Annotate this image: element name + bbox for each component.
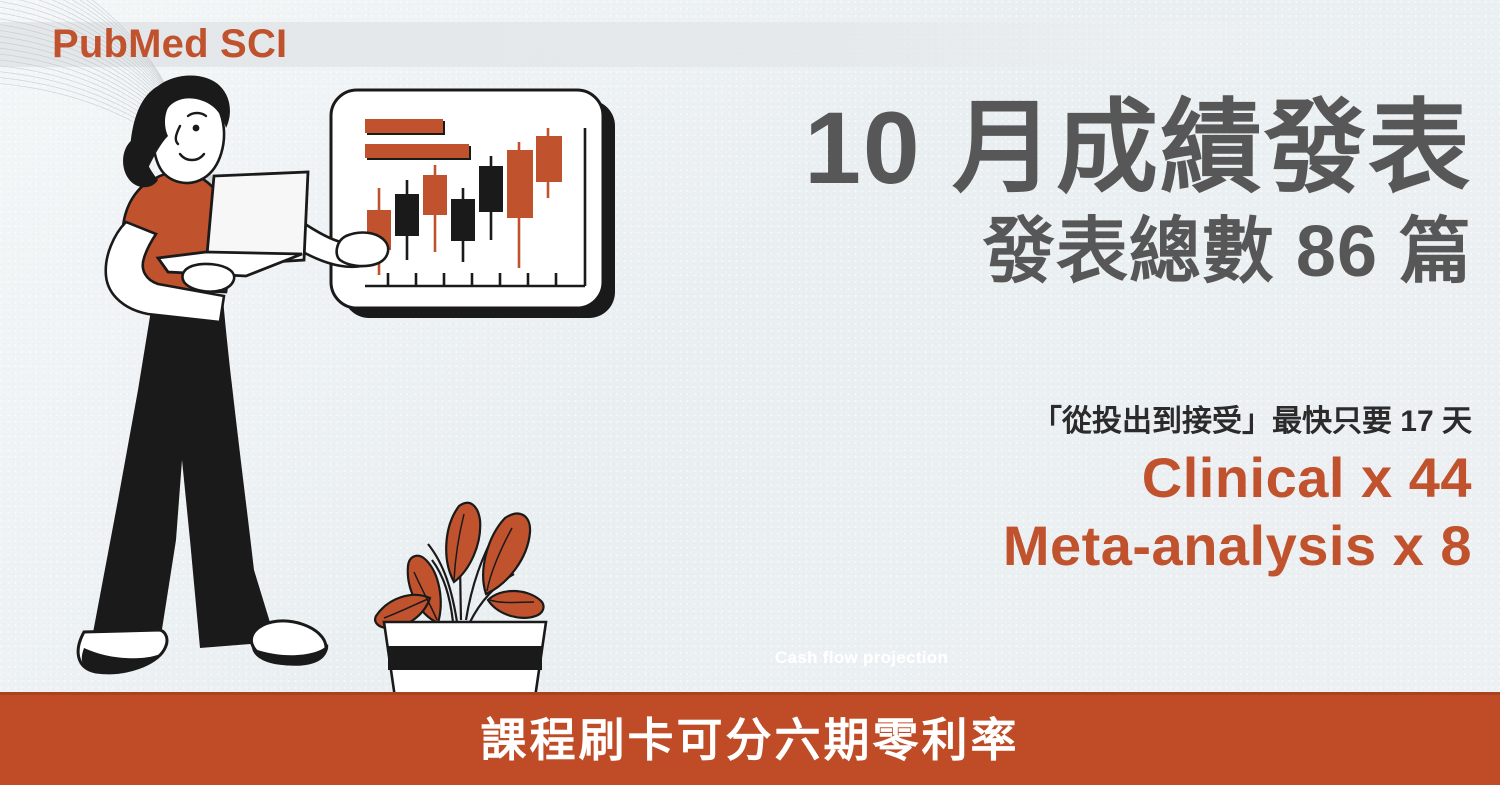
promo-banner: 課程刷卡可分六期零利率	[0, 695, 1500, 785]
plant-leaf-2	[483, 514, 530, 594]
figure-eye	[193, 125, 200, 132]
stats-note: 「從投出到接受」最快只要 17 天	[592, 400, 1472, 444]
stats-clinical: Clinical x 44	[592, 444, 1472, 512]
plant-pot-band-shape	[387, 646, 543, 670]
figure-hand-pointing	[337, 233, 389, 267]
plant-leaf-5	[488, 591, 544, 618]
poster-canvas: PubMed SCI	[0, 0, 1500, 785]
hero-illustration	[40, 70, 680, 695]
headline-main: 10 月成績發表	[592, 92, 1472, 204]
brand-title: PubMed SCI	[52, 20, 287, 68]
stats-meta-analysis: Meta-analysis x 8	[592, 512, 1472, 580]
potted-plant	[375, 503, 546, 695]
plant-leaves	[375, 503, 543, 628]
headline-block: 10 月成績發表 發表總數 86 篇	[592, 92, 1472, 300]
chart-caption: Cash flow projection	[775, 648, 948, 668]
promo-banner-text: 課程刷卡可分六期零利率	[481, 695, 1020, 785]
figure-hand-holding	[182, 264, 234, 292]
headline-sub: 發表總數 86 篇	[592, 204, 1472, 300]
figure-pants	[92, 298, 276, 648]
stats-block: 「從投出到接受」最快只要 17 天 Clinical x 44 Meta-ana…	[592, 400, 1472, 580]
candlestick-chart-card	[331, 90, 615, 318]
